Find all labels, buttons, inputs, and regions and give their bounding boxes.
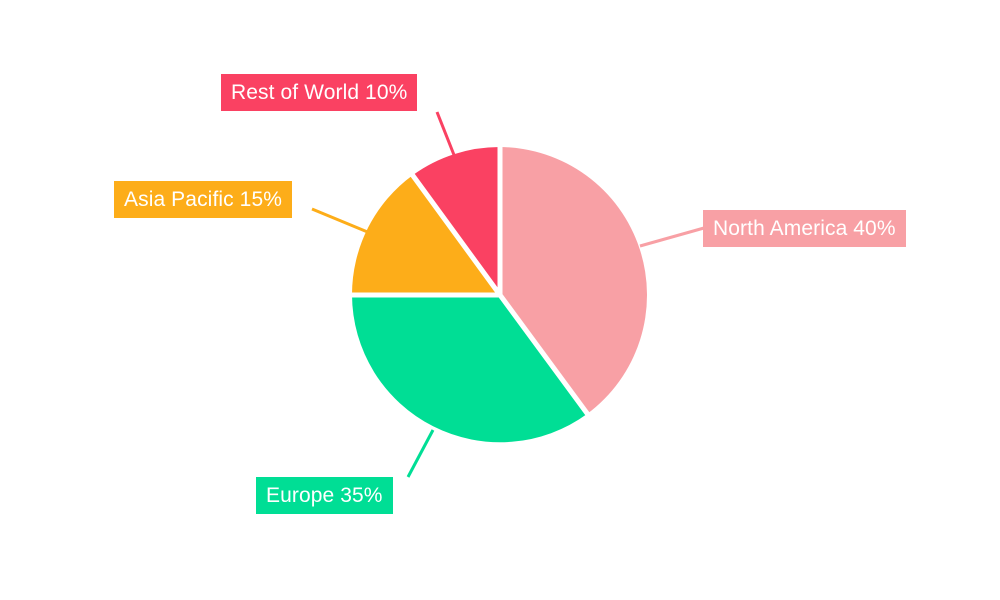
slice-label-text-asia-pacific: Asia Pacific 15% (124, 188, 282, 212)
slice-label-north-america: North America 40% (703, 210, 906, 247)
slice-label-europe: Europe 35% (256, 477, 393, 514)
slice-label-asia-pacific: Asia Pacific 15% (114, 181, 292, 218)
leader-line-rest-of-world (437, 112, 456, 160)
slice-label-text-europe: Europe 35% (266, 484, 383, 508)
leader-line-asia-pacific (312, 209, 370, 233)
slice-label-text-rest-of-world: Rest of World 10% (231, 81, 407, 105)
pie-chart-svg (0, 0, 1000, 600)
pie-chart: North America 40% Europe 35% Asia Pacifi… (0, 0, 1000, 600)
slice-label-rest-of-world: Rest of World 10% (221, 74, 417, 111)
slice-label-text-north-america: North America 40% (713, 217, 896, 241)
leader-line-europe (408, 430, 433, 477)
leader-line-north-america (640, 228, 704, 246)
